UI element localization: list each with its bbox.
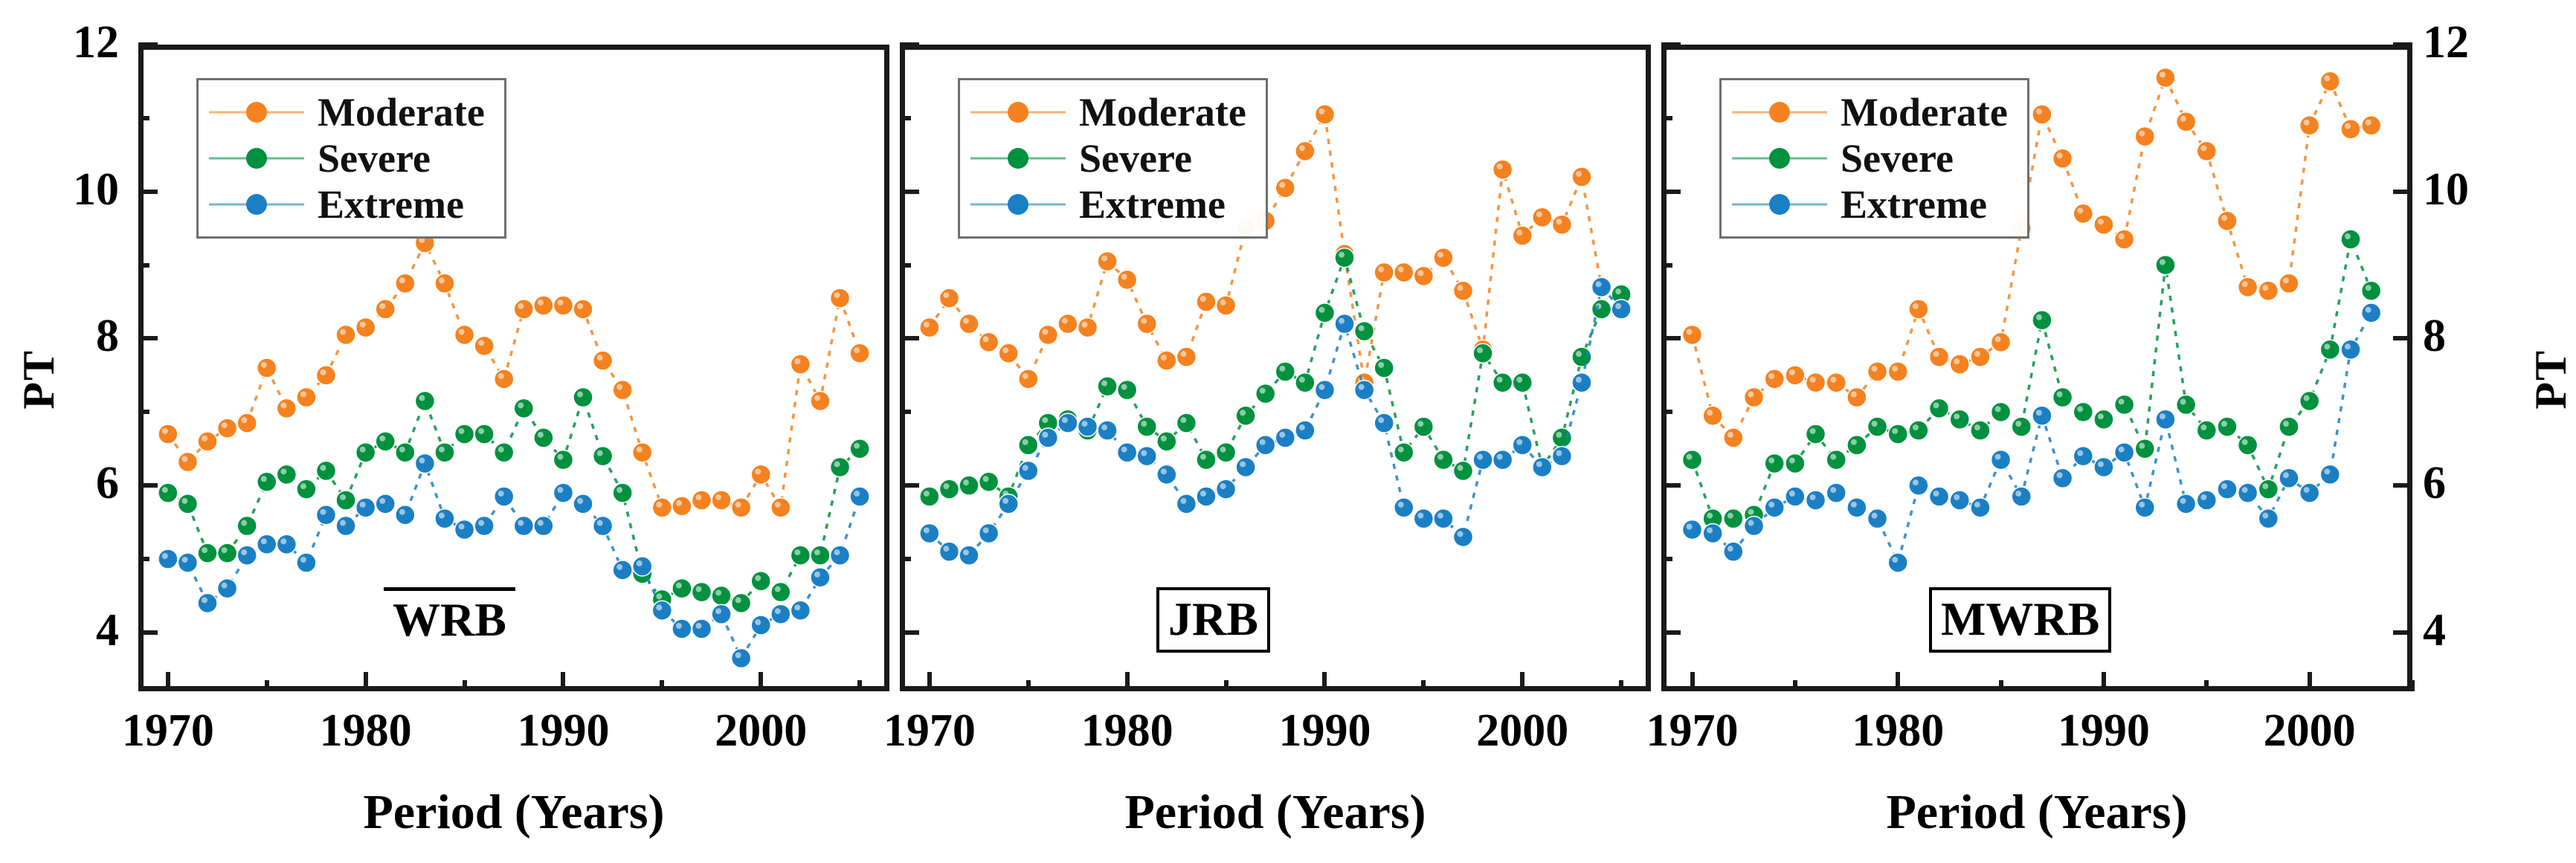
data-point — [652, 601, 672, 620]
data-point-highlight — [1398, 447, 1404, 453]
data-point — [1098, 421, 1117, 440]
data-point-highlight — [1318, 109, 1324, 114]
data-point — [1157, 351, 1176, 370]
data-point — [1513, 373, 1532, 392]
data-point — [1806, 491, 1826, 510]
data-point-highlight — [983, 527, 989, 533]
data-point — [1019, 436, 1038, 455]
data-point — [692, 583, 712, 602]
data-point — [534, 517, 553, 536]
data-point-highlight — [557, 300, 563, 306]
series-extreme — [920, 277, 1631, 565]
data-point-highlight — [1279, 432, 1285, 438]
data-point — [1724, 428, 1743, 447]
data-point — [1991, 450, 2011, 470]
data-point — [1826, 483, 1846, 502]
x-tick-label: 1970 — [844, 705, 1015, 757]
data-point-highlight — [1892, 428, 1898, 434]
data-point-highlight — [1220, 447, 1226, 453]
data-point-highlight — [1497, 454, 1503, 460]
data-point-highlight — [1101, 424, 1107, 430]
data-point-highlight — [1596, 281, 1602, 287]
data-point-highlight — [794, 549, 800, 555]
data-point-highlight — [1727, 432, 1733, 438]
data-point — [1038, 326, 1057, 345]
data-point — [2341, 230, 2360, 249]
data-point-highlight — [321, 369, 326, 375]
data-point — [593, 351, 613, 370]
panel-tag-jrb: JRB — [1156, 587, 1270, 653]
data-point-highlight — [2366, 307, 2371, 313]
data-point-highlight — [924, 527, 930, 533]
data-point — [2094, 457, 2113, 476]
data-point-highlight — [814, 395, 820, 401]
data-point — [1513, 226, 1532, 245]
data-point-highlight — [2180, 398, 2186, 404]
data-point-highlight — [1002, 498, 1008, 504]
data-point-highlight — [924, 491, 930, 497]
data-point — [495, 487, 514, 506]
data-point-highlight — [2324, 343, 2330, 349]
data-point — [1137, 417, 1156, 436]
data-point — [1745, 388, 1764, 407]
data-point-highlight — [794, 358, 800, 364]
data-point — [237, 546, 257, 565]
data-point — [435, 443, 454, 462]
data-point-highlight — [2345, 343, 2351, 349]
data-point — [1806, 424, 1826, 444]
data-point — [1454, 281, 1473, 300]
data-point-highlight — [1062, 318, 1068, 324]
data-point-highlight — [1933, 351, 1939, 357]
data-point-highlight — [2200, 145, 2206, 151]
data-point-highlight — [340, 520, 346, 526]
data-point-highlight — [983, 336, 989, 342]
data-point — [593, 447, 613, 466]
data-point — [1950, 355, 1969, 374]
data-point-highlight — [1516, 230, 1522, 236]
data-point — [920, 523, 939, 543]
legend-item-moderate[interactable]: Moderate — [1732, 89, 2008, 135]
data-point-highlight — [2119, 398, 2125, 404]
data-point — [2279, 274, 2299, 293]
data-point — [257, 472, 277, 491]
data-point-highlight — [2119, 233, 2125, 239]
data-point-highlight — [1279, 366, 1285, 372]
legend-item-severe[interactable]: Severe — [209, 135, 485, 181]
data-point — [1971, 498, 1990, 517]
data-point — [1683, 520, 1702, 540]
data-point-highlight — [2345, 123, 2351, 129]
data-point-highlight — [656, 502, 662, 508]
data-point — [979, 523, 999, 543]
data-point — [218, 579, 237, 598]
data-point — [158, 424, 178, 444]
data-point-highlight — [498, 373, 504, 379]
data-point — [672, 497, 692, 516]
data-point — [633, 443, 652, 462]
data-point-highlight — [1359, 326, 1365, 332]
data-point-highlight — [1318, 384, 1324, 390]
data-point — [2341, 340, 2360, 359]
data-point-highlight — [1556, 450, 1562, 456]
data-point-highlight — [1437, 252, 1443, 258]
data-point — [2073, 204, 2093, 223]
data-point-highlight — [1707, 527, 1713, 533]
data-point-highlight — [1200, 491, 1206, 497]
data-point-highlight — [1200, 454, 1206, 460]
y-axis-title-left: PT — [13, 349, 65, 410]
data-point-highlight — [2283, 472, 2289, 478]
data-point-highlight — [1260, 439, 1266, 445]
data-point-highlight — [2139, 443, 2145, 449]
panel-tag-mwrb: MWRB — [1929, 587, 2111, 653]
data-point-highlight — [1536, 461, 1542, 467]
legend-line-swatch — [970, 111, 1066, 114]
data-point-highlight — [1707, 410, 1713, 416]
x-axis-title: Period (Years) — [1754, 784, 2319, 841]
data-point — [1019, 369, 1038, 389]
data-point-highlight — [696, 494, 702, 500]
data-point — [2258, 479, 2278, 499]
data-point-highlight — [1872, 421, 1878, 427]
data-point — [712, 586, 731, 605]
data-point-highlight — [1161, 355, 1167, 361]
data-point — [1394, 443, 1414, 462]
data-point — [257, 358, 277, 378]
data-point-highlight — [181, 498, 187, 504]
x-tick-label: 1990 — [477, 705, 648, 757]
data-point-highlight — [715, 589, 721, 595]
y-tick-label-right: 10 — [2423, 164, 2527, 216]
data-point-highlight — [577, 303, 583, 309]
data-point — [1950, 410, 1969, 429]
data-point — [396, 505, 415, 525]
data-point-highlight — [834, 549, 840, 555]
data-point — [2094, 410, 2113, 429]
data-point — [2053, 468, 2073, 488]
data-point-highlight — [1768, 458, 1774, 464]
data-point — [1868, 509, 1887, 529]
data-point — [2362, 281, 2381, 300]
data-point-highlight — [1687, 329, 1693, 335]
data-point-highlight — [2324, 75, 2330, 81]
data-point — [790, 355, 810, 374]
data-point-highlight — [538, 520, 544, 526]
data-point-highlight — [1082, 421, 1088, 427]
data-point — [1434, 509, 1453, 529]
data-point — [376, 494, 395, 514]
legend-item-extreme[interactable]: Extreme — [209, 181, 485, 227]
data-point-highlight — [1458, 531, 1464, 537]
data-point — [297, 388, 316, 407]
y-tick-label-right: 8 — [2423, 310, 2527, 363]
data-point-highlight — [2015, 491, 2021, 497]
legend-item-moderate[interactable]: Moderate — [970, 89, 1246, 135]
data-point-highlight — [1417, 513, 1423, 519]
data-point-highlight — [1260, 388, 1266, 394]
data-point-highlight — [1417, 270, 1423, 276]
data-point-highlight — [735, 597, 741, 603]
data-point — [831, 457, 850, 476]
data-point-highlight — [2324, 468, 2330, 474]
x-tick-label: 2000 — [2224, 705, 2395, 757]
data-point-highlight — [1477, 454, 1483, 460]
data-point — [257, 534, 277, 554]
data-point-highlight — [2077, 406, 2083, 412]
data-point-highlight — [924, 322, 930, 328]
legend-item-extreme[interactable]: Extreme — [1732, 181, 2008, 227]
data-point-highlight — [577, 392, 583, 398]
data-point-highlight — [983, 476, 989, 482]
data-point — [553, 483, 573, 502]
legend-item-extreme[interactable]: Extreme — [970, 181, 1246, 227]
data-point — [633, 557, 652, 576]
data-point — [811, 568, 830, 587]
data-point-highlight — [439, 277, 445, 283]
legend-label: Extreme — [318, 184, 464, 224]
data-point — [2197, 421, 2216, 440]
data-point — [1295, 373, 1315, 392]
data-point — [1176, 494, 1196, 514]
chart-legend: ModerateSevereExtreme — [196, 78, 506, 239]
data-point-highlight — [1727, 513, 1733, 519]
data-point — [692, 491, 712, 510]
data-point-highlight — [340, 329, 346, 335]
data-point-highlight — [478, 520, 484, 526]
data-point-highlight — [1768, 373, 1774, 379]
data-point — [317, 505, 336, 525]
data-point — [474, 336, 494, 355]
data-point — [2053, 149, 2073, 168]
legend-item-severe[interactable]: Severe — [1732, 135, 2008, 181]
data-point — [732, 649, 751, 668]
data-point-highlight — [775, 608, 781, 614]
legend-label: Severe — [1841, 138, 1954, 178]
data-point — [1374, 262, 1394, 282]
data-point — [455, 326, 474, 345]
data-point — [376, 432, 395, 451]
data-point — [2320, 71, 2340, 91]
data-point-highlight — [1023, 465, 1028, 471]
data-point-highlight — [1279, 182, 1285, 188]
data-point — [237, 517, 257, 536]
data-point-highlight — [963, 549, 969, 555]
data-point-highlight — [2242, 439, 2248, 445]
data-point — [613, 483, 632, 502]
data-point-highlight — [1851, 502, 1857, 508]
data-point — [979, 332, 999, 352]
data-point-highlight — [1180, 417, 1186, 423]
data-point-highlight — [943, 292, 949, 298]
legend-line-swatch — [209, 203, 304, 206]
data-point-highlight — [597, 450, 603, 456]
data-point — [771, 498, 790, 517]
data-point — [2238, 483, 2258, 502]
data-point — [1888, 424, 1907, 444]
data-point-highlight — [300, 557, 306, 563]
data-point — [2135, 439, 2154, 459]
data-point — [1724, 509, 1743, 529]
data-point — [455, 520, 474, 540]
data-point-highlight — [538, 432, 544, 438]
data-point-highlight — [2036, 314, 2042, 320]
data-point-highlight — [854, 443, 860, 449]
data-point-highlight — [321, 465, 326, 471]
data-point — [2197, 491, 2216, 510]
data-point — [920, 318, 939, 337]
data-point-highlight — [2057, 392, 2063, 398]
data-point — [1888, 553, 1907, 572]
data-point — [1374, 413, 1394, 433]
data-point — [178, 494, 197, 514]
data-point — [939, 542, 959, 561]
data-point — [1533, 457, 1552, 476]
data-point — [1414, 509, 1433, 529]
y-tick-label-left: 10 — [15, 164, 119, 216]
data-point-highlight — [538, 300, 544, 306]
legend-label: Moderate — [318, 92, 485, 132]
data-point-highlight — [755, 468, 761, 474]
data-point — [1355, 381, 1374, 400]
data-point-highlight — [1687, 524, 1693, 530]
data-point — [1909, 300, 1928, 319]
data-point-highlight — [1727, 546, 1733, 552]
data-point — [2094, 215, 2113, 234]
data-point-highlight — [1995, 336, 2001, 342]
data-point-highlight — [1830, 377, 1836, 383]
data-point — [1078, 318, 1098, 337]
legend-marker-icon — [246, 194, 267, 215]
data-point — [712, 491, 731, 510]
data-point — [1826, 373, 1846, 392]
data-point — [850, 487, 869, 506]
data-point-highlight — [637, 447, 643, 453]
data-point-highlight — [637, 560, 643, 566]
data-point — [495, 369, 514, 389]
data-point-highlight — [1240, 410, 1246, 416]
data-point-highlight — [2242, 487, 2248, 493]
data-point-highlight — [419, 458, 425, 464]
data-point-highlight — [518, 402, 524, 408]
data-point — [514, 517, 533, 536]
x-axis-title: Period (Years) — [993, 784, 1558, 841]
data-point-highlight — [775, 502, 781, 508]
data-point — [2135, 498, 2154, 517]
data-point — [850, 439, 869, 459]
data-point-highlight — [2200, 424, 2206, 430]
data-point — [474, 517, 494, 536]
data-point-highlight — [755, 619, 761, 625]
legend-line-swatch — [970, 203, 1066, 206]
data-point-highlight — [1023, 439, 1028, 445]
x-tick-label: 1990 — [2018, 705, 2189, 757]
legend-marker-icon — [1769, 102, 1790, 123]
data-point — [1930, 398, 1949, 418]
data-point — [336, 517, 355, 536]
data-point — [732, 498, 751, 517]
data-point — [1256, 436, 1275, 455]
legend-marker-icon — [1769, 194, 1790, 215]
data-point-highlight — [340, 494, 346, 500]
data-point — [1217, 296, 1236, 315]
data-point — [1683, 450, 1702, 470]
data-point — [1683, 326, 1702, 345]
legend-item-moderate[interactable]: Moderate — [209, 89, 485, 135]
data-point — [1137, 447, 1156, 466]
y-tick-label-left: 4 — [15, 604, 119, 657]
data-point-highlight — [1576, 351, 1582, 357]
data-point — [435, 274, 454, 293]
data-point-highlight — [2304, 395, 2310, 401]
data-point-highlight — [1220, 483, 1226, 489]
data-point-highlight — [360, 502, 366, 508]
data-point-highlight — [2077, 450, 2083, 456]
data-point — [1806, 373, 1826, 392]
data-point — [2362, 303, 2381, 323]
data-point-highlight — [854, 491, 860, 497]
data-point-highlight — [2283, 277, 2289, 283]
data-point — [396, 443, 415, 462]
data-point-highlight — [1240, 461, 1246, 467]
data-point-highlight — [2057, 152, 2063, 158]
data-point — [831, 546, 850, 565]
data-point — [553, 450, 573, 470]
data-point — [317, 366, 336, 385]
data-point — [1572, 167, 1591, 187]
data-point — [573, 494, 593, 514]
data-point — [2218, 211, 2237, 230]
legend-line-swatch — [209, 157, 304, 160]
data-point-highlight — [181, 456, 187, 462]
data-point-highlight — [1789, 369, 1795, 375]
data-point-highlight — [2345, 233, 2351, 239]
data-point — [435, 509, 454, 529]
data-point — [2362, 116, 2381, 135]
data-point-highlight — [557, 487, 563, 493]
data-point-highlight — [2098, 219, 2104, 224]
data-point — [1765, 454, 1784, 473]
data-point-highlight — [1023, 373, 1028, 379]
data-point — [1078, 417, 1098, 436]
data-point-highlight — [1576, 171, 1582, 177]
data-point — [1552, 215, 1571, 234]
data-point — [455, 424, 474, 444]
data-point-highlight — [1062, 417, 1068, 423]
data-point-highlight — [1536, 211, 1542, 217]
data-point — [2053, 388, 2073, 407]
y-tick-label-right: 6 — [2423, 457, 2527, 510]
data-point — [2115, 443, 2134, 462]
data-point-highlight — [597, 520, 603, 526]
data-point-highlight — [577, 498, 583, 504]
y-tick-label-left: 12 — [15, 16, 119, 69]
data-point-highlight — [1974, 424, 1980, 430]
data-point — [1256, 384, 1275, 404]
data-point — [1909, 476, 1928, 495]
chart-legend: ModerateSevereExtreme — [958, 78, 1268, 239]
data-point-highlight — [459, 524, 465, 530]
legend-item-severe[interactable]: Severe — [970, 135, 1246, 181]
data-point — [514, 300, 533, 319]
data-point — [1786, 366, 1805, 385]
data-point-highlight — [261, 538, 267, 544]
data-point-highlight — [1458, 285, 1464, 291]
data-point — [1355, 322, 1374, 341]
data-point-highlight — [1789, 458, 1795, 464]
legend-line-swatch — [1732, 111, 1827, 114]
data-point-highlight — [1789, 491, 1795, 497]
